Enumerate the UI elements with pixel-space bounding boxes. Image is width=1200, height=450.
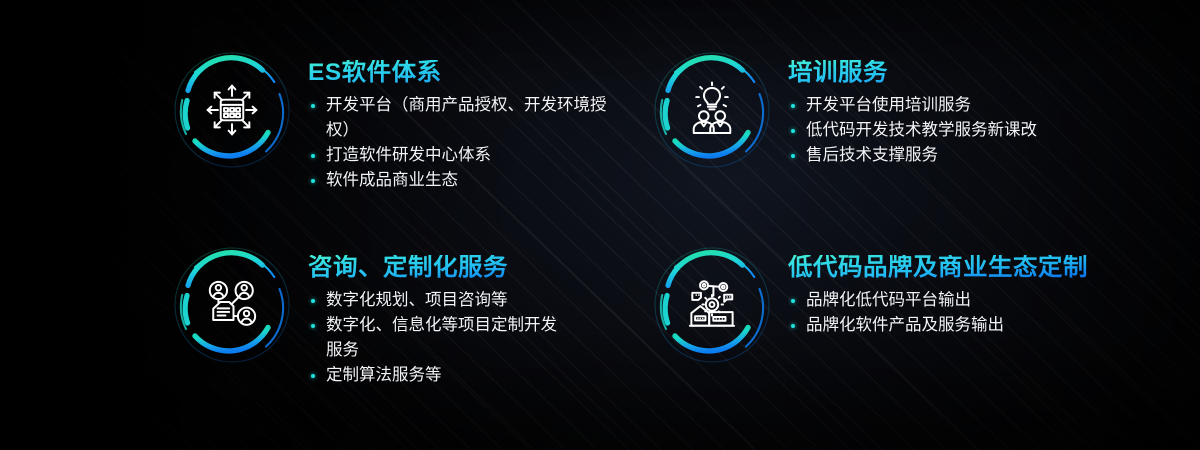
list-item: 品牌化软件产品及服务输出	[788, 313, 1088, 338]
card-title: 低代码品牌及商业生态定制	[788, 255, 1088, 281]
factory-gear-package-icon	[650, 243, 774, 367]
list-item: 开发平台（商用产品授权、开发环境授权）	[308, 93, 616, 143]
card-title: 咨询、定制化服务	[308, 255, 571, 281]
lightbulb-people-training-icon	[650, 48, 774, 172]
list-item: 数字化、信息化等项目定制开发服务	[308, 313, 571, 363]
list-item: 打造软件研发中心体系	[308, 143, 616, 168]
list-item: 低代码开发技术教学服务新课改	[788, 118, 1037, 143]
list-item: 数字化规划、项目咨询等	[308, 288, 571, 313]
card-text-block: 培训服务 开发平台使用培训服务 低代码开发技术教学服务新课改 售后技术支撑服务	[788, 48, 1037, 168]
list-item: 开发平台使用培训服务	[788, 93, 1037, 118]
card-text-block: 低代码品牌及商业生态定制 品牌化低代码平台输出 品牌化软件产品及服务输出	[788, 243, 1088, 338]
card-title: 培训服务	[788, 60, 1037, 86]
emblem-ring	[650, 48, 774, 172]
people-network-document-icon	[170, 243, 294, 367]
card-bullet-list: 开发平台（商用产品授权、开发环境授权） 打造软件研发中心体系 软件成品商业生态	[308, 93, 616, 193]
service-card-lowcode-brand-ecosystem-customization[interactable]: 低代码品牌及商业生态定制 品牌化低代码平台输出 品牌化软件产品及服务输出	[650, 243, 1088, 367]
service-card-training-service[interactable]: 培训服务 开发平台使用培训服务 低代码开发技术教学服务新课改 售后技术支撑服务	[650, 48, 1037, 172]
emblem-ring	[170, 243, 294, 367]
emblem-ring	[650, 243, 774, 367]
card-bullet-list: 品牌化低代码平台输出 品牌化软件产品及服务输出	[788, 288, 1088, 338]
card-text-block: 咨询、定制化服务 数字化规划、项目咨询等 数字化、信息化等项目定制开发服务 定制…	[308, 243, 571, 388]
service-card-es-software-system[interactable]: ES软件体系 开发平台（商用产品授权、开发环境授权） 打造软件研发中心体系 软件…	[170, 48, 616, 193]
emblem-ring	[170, 48, 294, 172]
list-item: 定制算法服务等	[308, 363, 571, 388]
card-bullet-list: 数字化规划、项目咨询等 数字化、信息化等项目定制开发服务 定制算法服务等	[308, 288, 571, 388]
list-item: 品牌化低代码平台输出	[788, 288, 1088, 313]
card-title: ES软件体系	[308, 60, 616, 86]
list-item: 软件成品商业生态	[308, 168, 616, 193]
service-card-grid: ES软件体系 开发平台（商用产品授权、开发环境授权） 打造软件研发中心体系 软件…	[0, 0, 1200, 450]
slide-canvas: ES软件体系 开发平台（商用产品授权、开发环境授权） 打造软件研发中心体系 软件…	[0, 0, 1200, 450]
expand-grid-server-icon	[170, 48, 294, 172]
service-card-consulting-customization-service[interactable]: 咨询、定制化服务 数字化规划、项目咨询等 数字化、信息化等项目定制开发服务 定制…	[170, 243, 571, 388]
card-bullet-list: 开发平台使用培训服务 低代码开发技术教学服务新课改 售后技术支撑服务	[788, 93, 1037, 168]
list-item: 售后技术支撑服务	[788, 143, 1037, 168]
card-text-block: ES软件体系 开发平台（商用产品授权、开发环境授权） 打造软件研发中心体系 软件…	[308, 48, 616, 193]
